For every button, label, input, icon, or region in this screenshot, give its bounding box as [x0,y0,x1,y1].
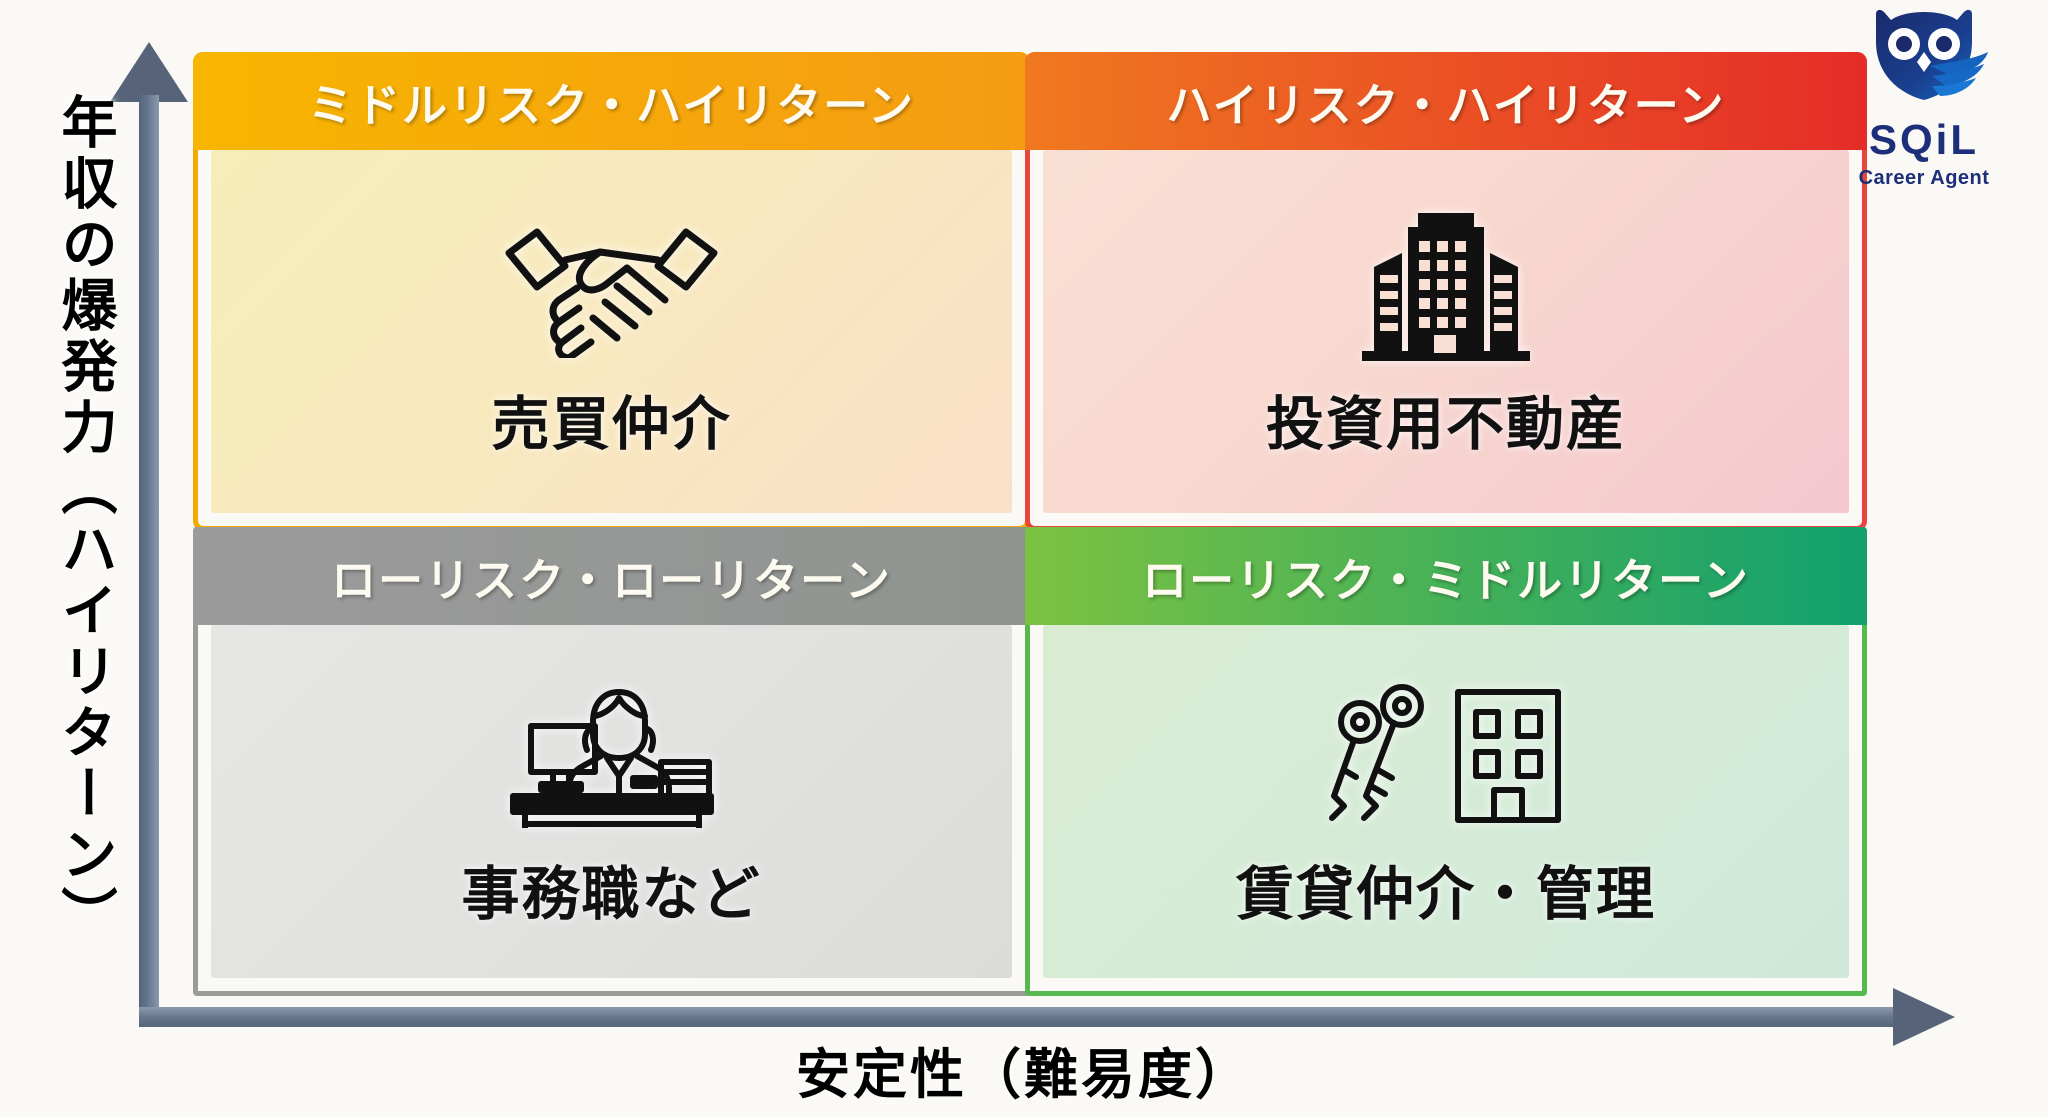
office-buildings-icon [1356,203,1536,363]
quadrant-body-bottom-right: 賃貸仲介・管理 [1043,625,1849,978]
quadrant-label-top-left: 売買仲介 [491,377,731,461]
quadrant-header-bottom-left: ローリスク・ローリターン [193,527,1030,625]
quadrant-low-risk-middle-return: ローリスク・ミドルリターン [1025,527,1867,996]
logo-tagline: Career Agent [1859,167,1990,190]
quadrant-high-risk-high-return: ハイリスク・ハイリターン [1025,52,1867,531]
office-worker-desk-icon [507,673,717,833]
quadrant-label-bottom-right: 賃貸仲介・管理 [1236,847,1656,931]
x-axis-line [139,1007,1909,1027]
quadrant-middle-risk-high-return: ミドルリスク・ハイリターン [193,52,1030,531]
quadrant-body-top-left: 売買仲介 [211,150,1012,513]
x-axis-title: 安定性（難易度） [0,1030,2048,1109]
quadrant-matrix-infographic: 年収の爆発力（ハイリターン） 安定性（難易度） ミドルリスク・ハイリターン [0,0,2048,1117]
y-axis-title: 年収の爆発力（ハイリターン） [8,80,113,960]
matrix-grid: ミドルリスク・ハイリターン [193,52,1867,996]
owl-icon [1858,8,1990,117]
sqil-logo[interactable]: SQiL Career Agent [1834,8,2014,190]
quadrant-header-top-right: ハイリスク・ハイリターン [1025,52,1867,150]
quadrant-body-bottom-left: 事務職など [211,625,1012,978]
quadrant-header-bottom-right: ローリスク・ミドルリターン [1025,527,1867,625]
keys-and-building-icon [1316,673,1576,833]
quadrant-header-top-left: ミドルリスク・ハイリターン [193,52,1030,150]
quadrant-label-top-right: 投資用不動産 [1266,377,1626,461]
quadrant-body-top-right: 投資用不動産 [1043,150,1849,513]
logo-wordmark: SQiL [1869,119,1979,161]
y-axis-line [139,95,159,1025]
quadrant-low-risk-low-return: ローリスク・ローリターン [193,527,1030,996]
y-axis-arrowhead-icon [110,42,188,102]
quadrant-label-bottom-left: 事務職など [461,847,761,931]
handshake-icon [499,203,724,363]
